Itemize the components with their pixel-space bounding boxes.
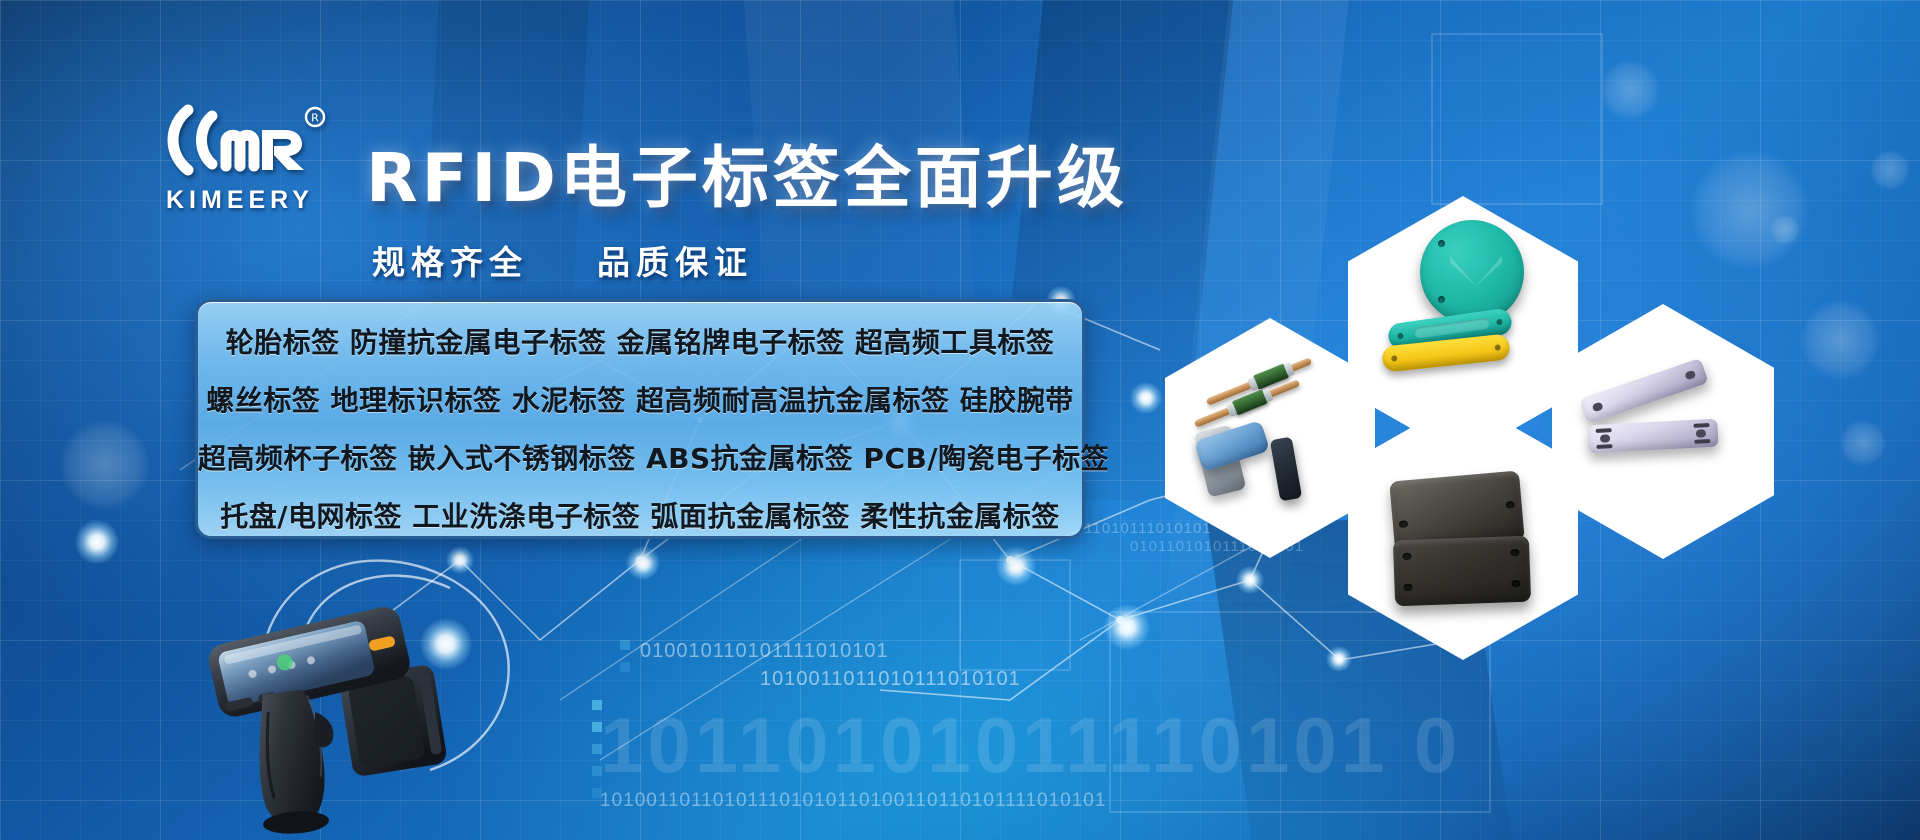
glow-node <box>1104 604 1150 650</box>
long-tag-hole <box>1684 370 1696 381</box>
long-anti-metal-tag <box>1587 419 1718 454</box>
hex-tile-dogbone-content <box>1165 318 1375 558</box>
bar-tag-hole <box>1496 319 1503 326</box>
brand-logo[interactable]: R KIMEERY <box>140 100 340 215</box>
bokeh-circle <box>1600 60 1660 120</box>
binary-decor-2: 1010011011010111010101 <box>760 668 1021 691</box>
glow-node <box>1236 566 1264 594</box>
binary-decor-1: 010010110101111010101 <box>640 640 889 663</box>
abs-tag-hole <box>1402 553 1411 560</box>
teal-disc-tag <box>1420 220 1524 324</box>
long-tag-slot <box>1596 428 1612 433</box>
handheld-rfid-reader[interactable] <box>195 600 495 840</box>
kimeery-wave-logo-icon: R <box>154 100 326 180</box>
rfid-promo-banner: 010010110101111010101 101001101101011101… <box>0 0 1920 840</box>
glow-node <box>1326 646 1352 672</box>
bokeh-circle <box>1870 150 1910 190</box>
page-title: RFID电子标签全面升级 <box>366 124 1128 221</box>
bokeh-circle <box>60 420 150 510</box>
glow-node <box>446 546 474 574</box>
bokeh-circle <box>1840 420 1886 466</box>
product-category-row: 托盘/电网标签 工业洗涤电子标签 弧面抗金属标签 柔性抗金属标签 <box>198 488 1082 546</box>
bokeh-circle <box>1770 215 1800 245</box>
product-category-row: 超高频杯子标签 嵌入式不锈钢标签 ABS抗金属标签 PCB/陶瓷电子标签 <box>198 430 1082 488</box>
glow-node <box>75 520 119 564</box>
disc-chevron-emboss <box>1450 256 1502 286</box>
abs-tag-hole <box>1511 580 1520 587</box>
subtitle-right: 品质保证 <box>597 243 753 282</box>
decor-dot-column <box>620 640 630 684</box>
black-stick-tag <box>1270 437 1302 502</box>
long-anti-metal-tag <box>1579 358 1708 424</box>
long-tag-hole <box>1600 434 1610 443</box>
bokeh-circle <box>1800 300 1880 380</box>
brand-name: KIMEERY <box>140 186 340 215</box>
bokeh-circle <box>1690 150 1810 270</box>
hex-tile-abs-content <box>1348 398 1578 660</box>
product-category-row: 螺丝标签 地理标识标签 水泥标签 超高频耐高温抗金属标签 硅胶腕带 <box>198 372 1082 430</box>
abs-tag-hole <box>1399 520 1409 528</box>
long-tag-hole <box>1592 402 1604 413</box>
handheld-rfid-reader-icon <box>195 600 495 840</box>
abs-tag-hole <box>1510 549 1519 556</box>
long-tag-slot <box>1596 444 1612 449</box>
product-category-row: 轮胎标签 防撞抗金属电子标签 金属铭牌电子标签 超高频工具标签 <box>198 314 1082 372</box>
binary-decor-large: 10110101011110101 0 <box>600 700 1461 791</box>
abs-anti-metal-tag <box>1393 536 1531 607</box>
hex-tile-abs-tags[interactable] <box>1348 398 1578 660</box>
abs-tag-hole <box>1403 584 1412 591</box>
long-tag-slot <box>1694 439 1710 444</box>
glow-node <box>1130 382 1162 414</box>
glow-node <box>996 546 1036 586</box>
long-tag-slot <box>1693 423 1709 428</box>
bar-tag-hole <box>1397 333 1404 340</box>
abs-tag-hole <box>1505 501 1515 509</box>
long-tag-hole <box>1696 429 1706 438</box>
hex-tile-long-tags[interactable] <box>1552 304 1774 559</box>
page-subtitle: 规格齐全 品质保证 <box>372 236 753 284</box>
svg-text:R: R <box>311 112 319 125</box>
subtitle-left: 规格齐全 <box>372 243 528 282</box>
bar-tag-hole <box>1494 344 1501 351</box>
decor-dot-column <box>592 700 602 810</box>
bar-tag-hole <box>1391 355 1398 362</box>
binary-decor-bottom: 1010011011010111010101101001101101011110… <box>600 790 1106 812</box>
hex-tile-dogbone-tags[interactable] <box>1165 318 1375 558</box>
hex-tile-long-content <box>1552 304 1774 559</box>
glow-node <box>626 546 660 580</box>
product-category-panel: 轮胎标签 防撞抗金属电子标签 金属铭牌电子标签 超高频工具标签 螺丝标签 地理标… <box>195 299 1085 539</box>
